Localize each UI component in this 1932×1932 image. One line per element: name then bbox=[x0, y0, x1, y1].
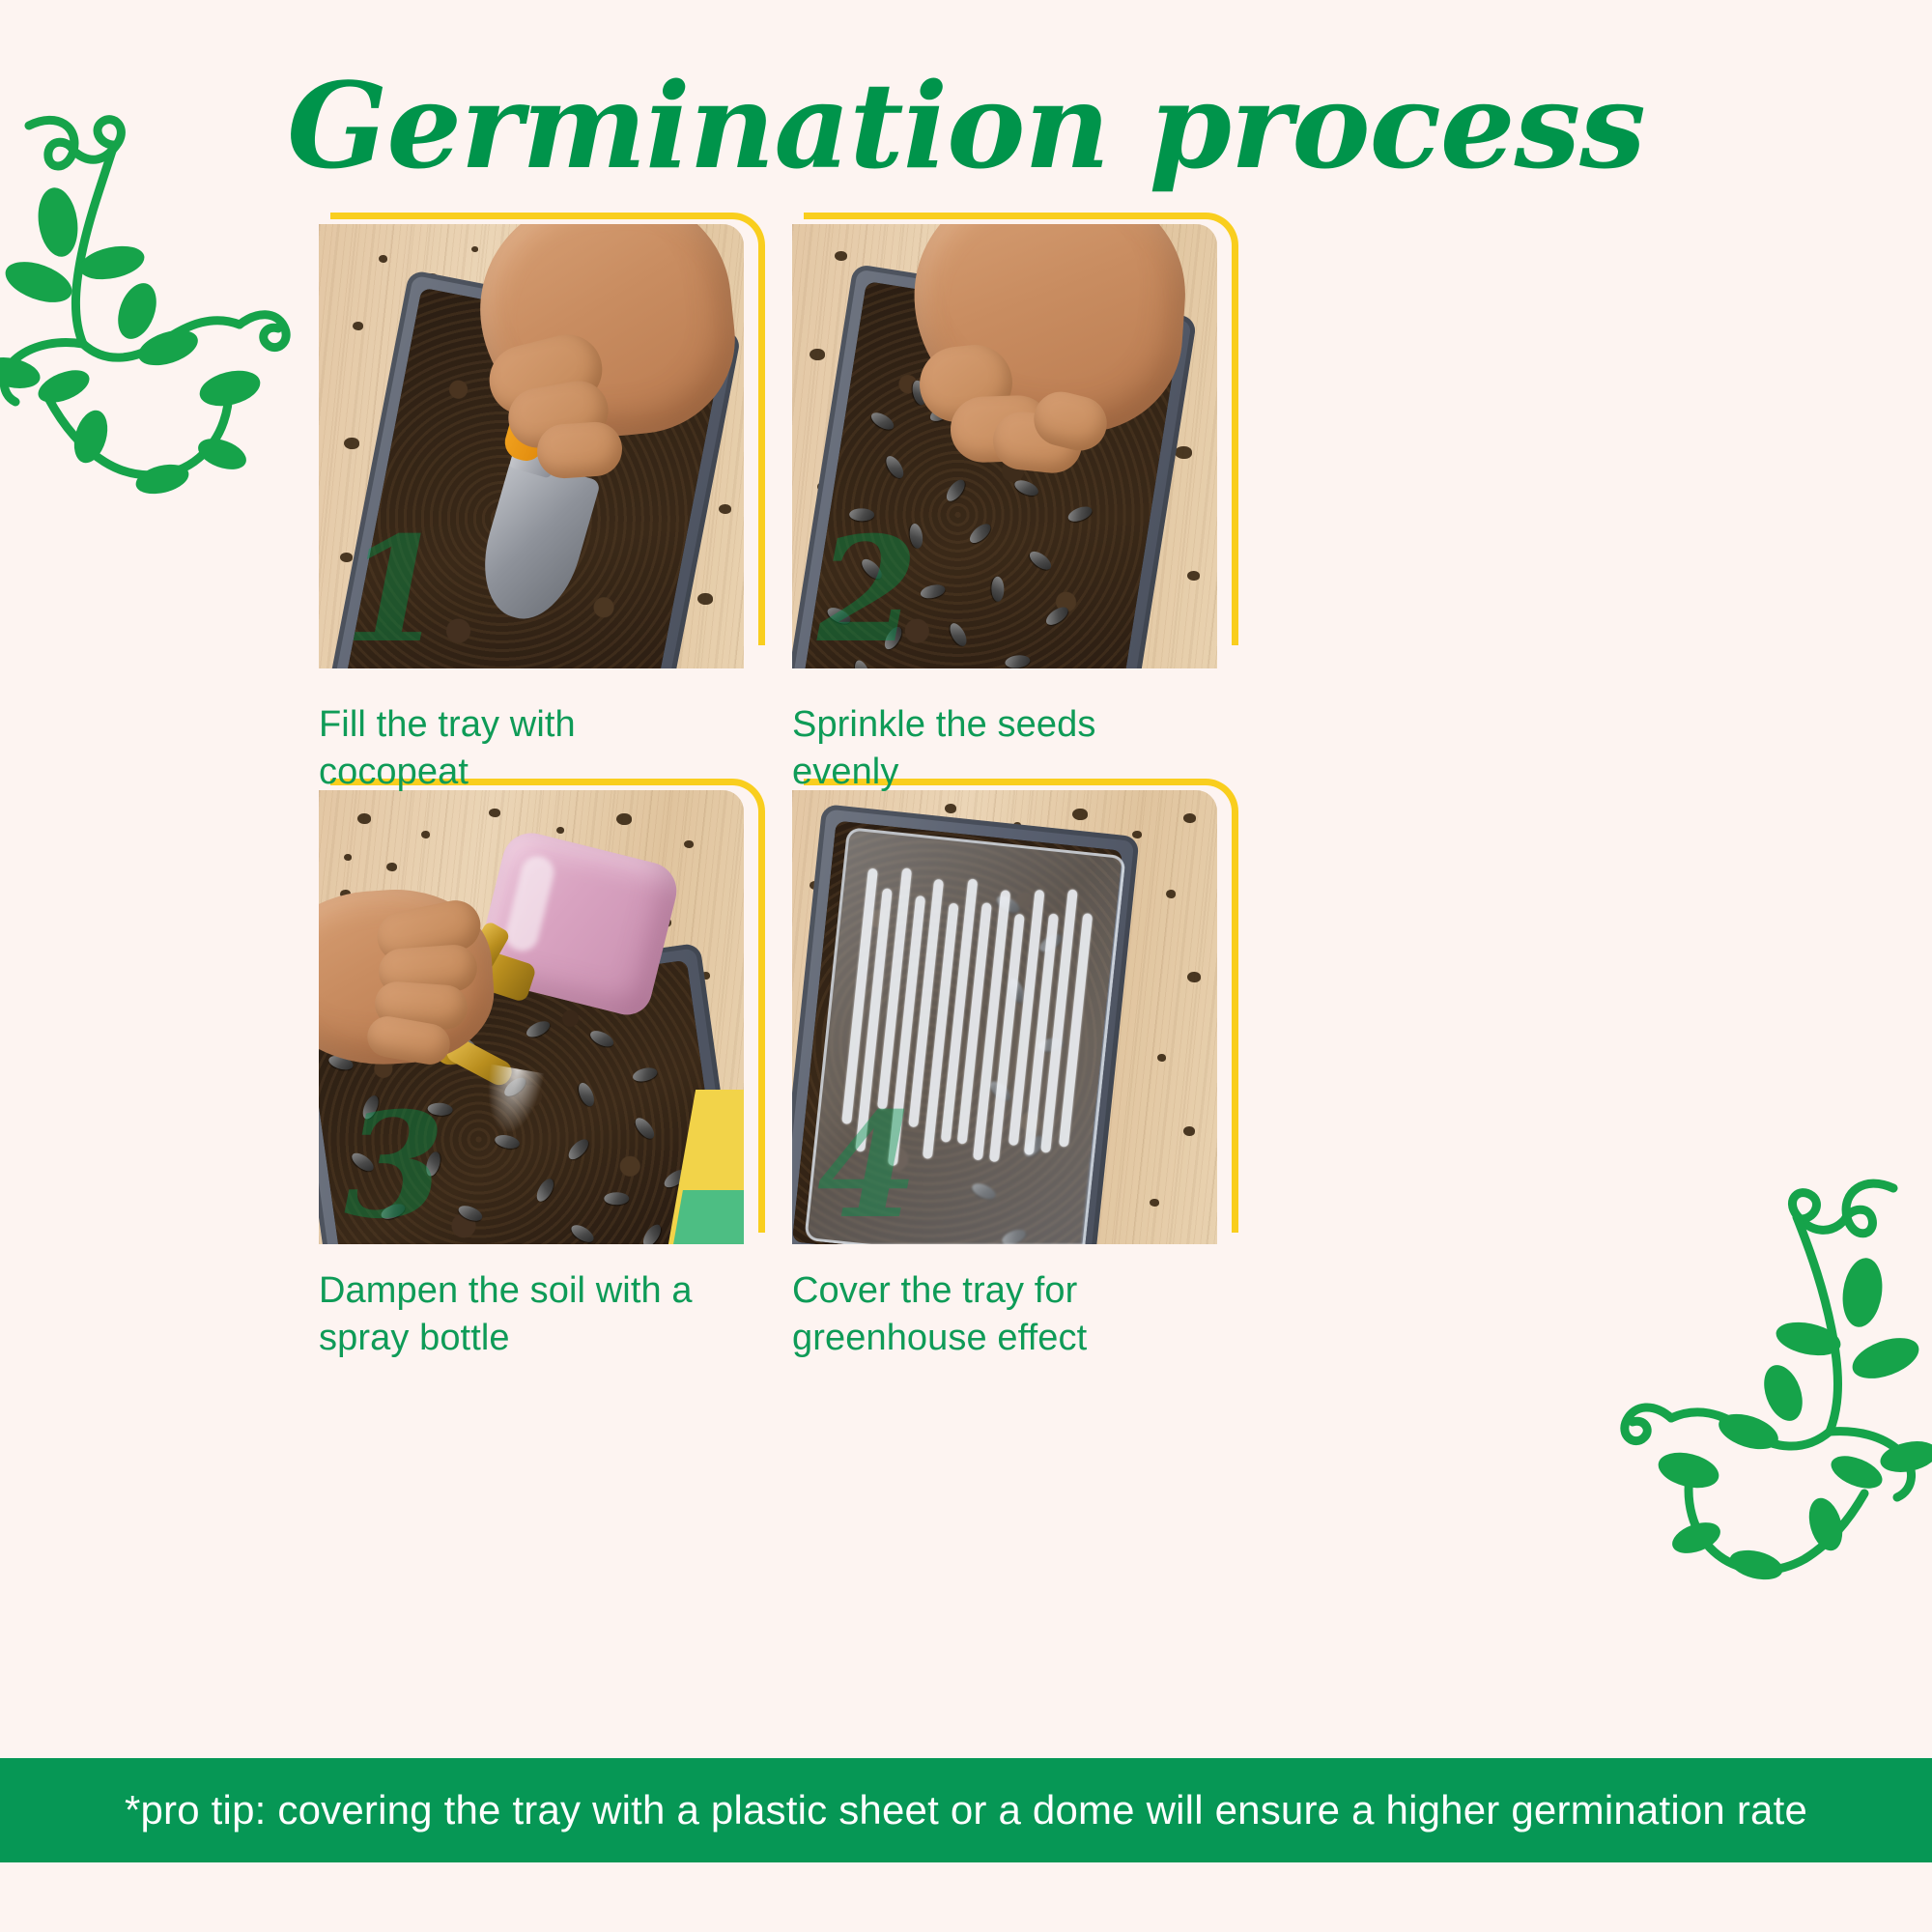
infographic-canvas: Germination process bbox=[0, 0, 1932, 1932]
step-2-caption: Sprinkle the seeds evenly bbox=[792, 701, 1198, 795]
water-mist bbox=[480, 1065, 545, 1137]
step-2-photo-wrap: 2 bbox=[792, 224, 1217, 678]
step-card-3: 3 Dampen the soil with a spray bottle bbox=[319, 790, 792, 1361]
green-tool-grip bbox=[673, 1190, 744, 1244]
step-card-4: 4 Cover the tray for greenhouse effect bbox=[792, 790, 1265, 1361]
step-1-photo-wrap: 1 bbox=[319, 224, 744, 678]
step-3-photo: 3 bbox=[319, 790, 744, 1244]
step-1-photo: 1 bbox=[319, 224, 744, 668]
step-1-caption: Fill the tray with cocopeat bbox=[319, 701, 724, 795]
dome-vent-slots bbox=[827, 853, 1103, 1243]
pro-tip-text: *pro tip: covering the tray with a plast… bbox=[125, 1787, 1807, 1833]
step-3-photo-wrap: 3 bbox=[319, 790, 744, 1244]
step-card-2: 2 Sprinkle the seeds evenly bbox=[792, 224, 1265, 795]
finger bbox=[535, 420, 624, 480]
pro-tip-banner: *pro tip: covering the tray with a plast… bbox=[0, 1758, 1932, 1862]
plastic-dome-lid bbox=[804, 827, 1125, 1244]
vine-right-icon bbox=[1604, 1150, 1932, 1594]
step-4-photo-wrap: 4 bbox=[792, 790, 1217, 1244]
step-3-caption: Dampen the soil with a spray bottle bbox=[319, 1267, 724, 1361]
step-card-1: 1 Fill the tray with cocopeat bbox=[319, 224, 792, 795]
page-title: Germination process bbox=[0, 56, 1932, 195]
step-2-photo: 2 bbox=[792, 224, 1217, 668]
step-4-caption: Cover the tray for greenhouse effect bbox=[792, 1267, 1198, 1361]
bottle-gloss bbox=[502, 853, 557, 954]
step-4-photo: 4 bbox=[792, 790, 1217, 1244]
